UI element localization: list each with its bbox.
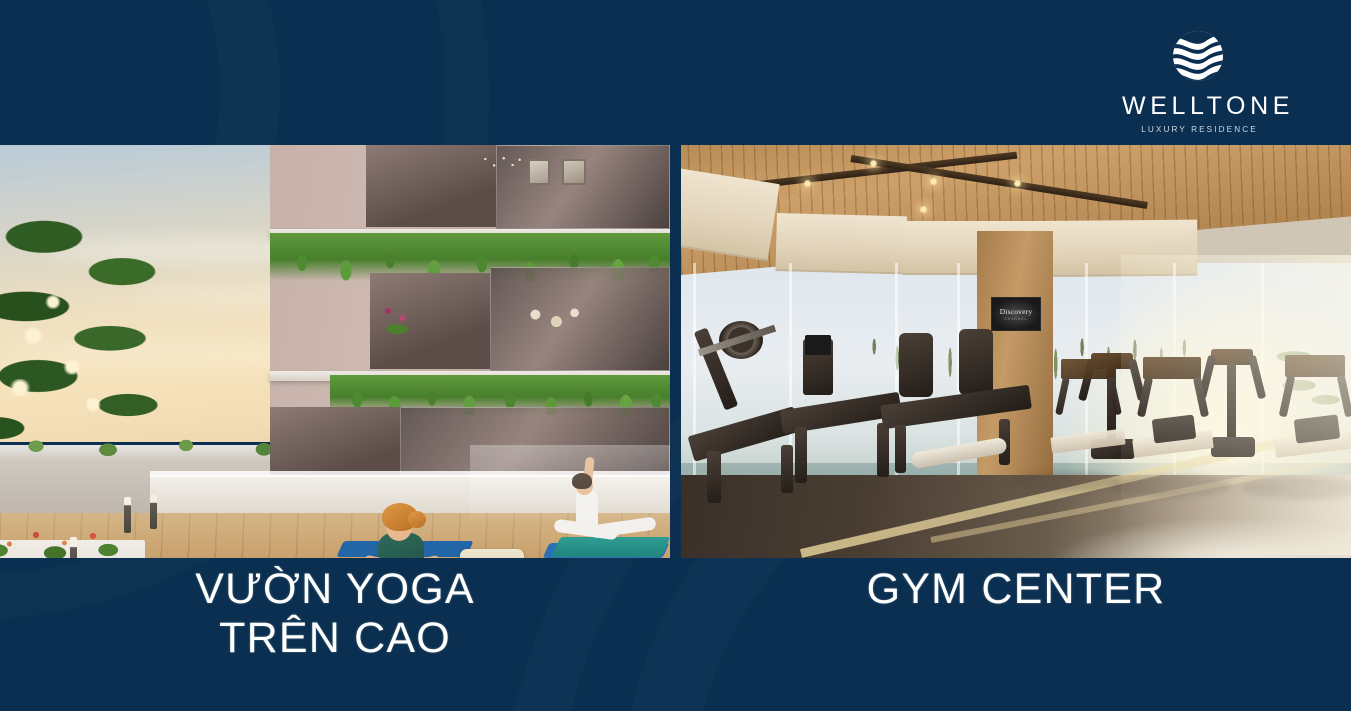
screen-sub-label: CHANNEL — [1005, 317, 1028, 321]
treadmill — [1135, 357, 1213, 489]
equipment-shadow — [1111, 475, 1231, 497]
yoga-garden-photo — [0, 145, 670, 558]
panel-yoga[interactable] — [0, 145, 670, 558]
gym-center-photo: Discovery CHANNEL — [681, 145, 1351, 558]
equipment-shadow — [1011, 471, 1121, 491]
roller-blind — [681, 167, 780, 261]
wall-artwork — [528, 159, 550, 185]
brand-logo: WELLTONE LUXURY RESIDENCE — [1118, 24, 1278, 134]
treadmill — [1277, 355, 1351, 489]
welltone-sphere-wave-logo-icon — [1166, 24, 1230, 88]
path-bollard-light — [124, 497, 131, 533]
path-bollard-light — [70, 537, 77, 558]
yoga-bolster — [460, 549, 524, 558]
blossom — [22, 327, 44, 345]
path-bollard-light — [150, 495, 157, 529]
treadmill — [1053, 359, 1125, 487]
screen-brand-label: Discovery — [1000, 307, 1033, 316]
brand-name: WELLTONE — [1122, 94, 1278, 119]
seated-press-machine — [881, 333, 1041, 493]
chandelier — [480, 151, 524, 171]
wall-artwork — [562, 159, 586, 185]
ceiling-spotlight — [919, 205, 928, 214]
ceiling-spotlight — [1013, 179, 1022, 188]
brand-tagline: LUXURY RESIDENCE — [1121, 125, 1278, 134]
blossom — [8, 379, 32, 397]
blossom — [84, 397, 102, 412]
blossom — [62, 359, 82, 375]
ceiling-spotlight — [869, 159, 878, 168]
residential-tower — [270, 145, 670, 490]
ceiling-spotlight — [803, 179, 812, 188]
discovery-channel-screen: Discovery CHANNEL — [991, 297, 1041, 331]
panel-gym[interactable]: Discovery CHANNEL — [681, 145, 1351, 558]
caption-yoga: VƯỜN YOGA TRÊN CAO — [0, 565, 670, 663]
roller-blind — [775, 213, 906, 274]
caption-gym: GYM CENTER — [681, 565, 1351, 614]
floral-arrangement — [520, 297, 590, 341]
balcony-planter — [374, 295, 420, 335]
caption-gym-line1: GYM CENTER — [681, 565, 1351, 614]
slide-root: WELLTONE LUXURY RESIDENCE — [0, 0, 1351, 711]
apartment-interior — [366, 145, 496, 227]
plumeria-tree — [0, 173, 236, 463]
caption-yoga-line1: VƯỜN YOGA — [0, 565, 670, 614]
caption-yoga-line2: TRÊN CAO — [0, 614, 670, 663]
blossom — [44, 295, 62, 309]
ceiling-spotlight — [929, 177, 938, 186]
glass-railing-reflection — [470, 445, 670, 523]
yoga-practitioner-seated — [368, 503, 458, 558]
